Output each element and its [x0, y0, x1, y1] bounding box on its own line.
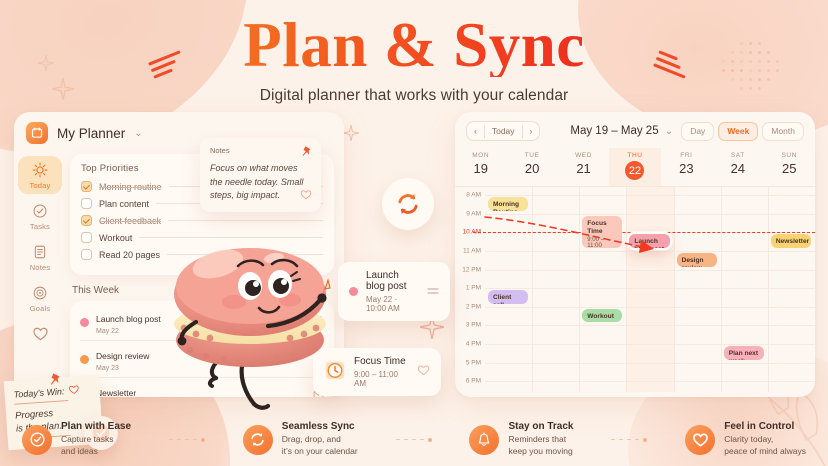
feature-connector	[131, 438, 243, 442]
priority-label: Workout	[99, 233, 132, 243]
calendar-event[interactable]: Design review11:00 – 12:00	[677, 253, 717, 267]
feature-connector	[358, 438, 470, 442]
sidebar-item-goals[interactable]: Goals	[18, 279, 62, 317]
heart-icon	[685, 425, 715, 455]
day-name: FRI	[661, 152, 712, 159]
calendar-event[interactable]: Workout2:00 – 3:00	[582, 309, 622, 323]
sidebar-item-tasks[interactable]: Tasks	[18, 197, 62, 235]
task-color-dot	[349, 287, 358, 296]
hour-line	[485, 270, 815, 271]
page-title: Plan & Sync	[0, 14, 828, 77]
chevron-down-icon[interactable]: ⌄	[134, 128, 142, 139]
time-label: 9 AM	[466, 210, 481, 217]
event-title: Plan next week	[729, 350, 759, 360]
checkbox[interactable]	[81, 198, 92, 209]
feature-desc: Reminders thatkeep you moving	[508, 434, 573, 458]
today-button[interactable]: Today	[485, 122, 522, 140]
feature-row: Plan with EaseCapture tasksand ideasSeam…	[0, 421, 828, 458]
time-label: 4 PM	[466, 341, 481, 348]
heart-icon[interactable]	[300, 187, 312, 205]
event-title: Client call	[493, 294, 523, 304]
floating-task-card[interactable]: Launch blog post May 22 · 10:00 AM	[338, 262, 450, 321]
priority-label: Client feedback	[99, 216, 161, 226]
check-circle-icon	[22, 425, 52, 455]
day-number: 24	[712, 161, 763, 176]
day-number: 23	[661, 161, 712, 176]
date-range[interactable]: May 19 – May 25 ⌄	[570, 125, 673, 137]
day-divider	[768, 187, 769, 392]
event-title: Newsletter	[776, 238, 806, 246]
drag-arrow	[483, 213, 673, 257]
sparkle-icon	[343, 125, 359, 141]
hour-line	[485, 288, 815, 289]
item-color-dot	[80, 355, 89, 364]
sidebar-item-label: Goals	[30, 304, 51, 313]
calendar-event[interactable]: Morning Routine8:00 – 9:00	[488, 197, 528, 211]
planner-title: My Planner	[57, 126, 125, 141]
checkbox[interactable]	[81, 249, 92, 260]
hour-line	[485, 307, 815, 308]
hour-line	[485, 381, 815, 382]
planner-logo-icon	[26, 122, 48, 144]
hour-line	[485, 195, 815, 196]
notes-card[interactable]: Notes Focus on what moves the needle tod…	[200, 138, 321, 212]
view-switcher: DayWeekMonth	[681, 122, 804, 141]
row-rule	[168, 220, 323, 221]
sidebar-item-today[interactable]: Today	[18, 156, 62, 194]
macaron-mascot	[150, 228, 350, 413]
event-title: Design review	[682, 257, 712, 267]
feature-title: Feel in Control	[724, 421, 806, 432]
focus-subtitle: 9:00 – 11:00 AM	[354, 370, 409, 388]
calendar-event[interactable]: Plan next week4:00 – 5:00	[724, 346, 764, 360]
day-number: 21	[558, 161, 609, 176]
day-column-header[interactable]: WED21	[558, 148, 609, 186]
sync-badge[interactable]	[382, 178, 434, 230]
event-title: Morning Routine	[493, 201, 523, 211]
item-title: Design review	[96, 351, 149, 361]
day-column-header[interactable]: SAT24	[712, 148, 763, 186]
time-axis: 8 AM9 AM10 AM11 AM12 PM1 PM2 PM3 PM4 PM5…	[455, 187, 485, 392]
heart-icon	[32, 326, 49, 341]
event-title: Workout	[587, 313, 617, 321]
priority-label: Plan content	[99, 199, 149, 209]
hero: Plan & Sync Digital planner that works w…	[0, 14, 828, 105]
sidebar-item-notes[interactable]: Notes	[18, 238, 62, 276]
time-label: 6 PM	[466, 378, 481, 385]
poster-stage: Plan & Sync Digital planner that works w…	[0, 0, 828, 466]
day-name: SUN	[764, 152, 815, 159]
hour-line	[485, 363, 815, 364]
sun-icon	[32, 162, 48, 178]
view-option-day[interactable]: Day	[681, 122, 714, 141]
day-divider	[674, 187, 675, 392]
check-circle-icon	[32, 203, 48, 219]
day-number: 19	[455, 161, 506, 176]
sidebar-item-label: Today	[29, 181, 50, 190]
calendar-panel: ‹ Today › May 19 – May 25 ⌄ DayWeekMonth…	[455, 112, 815, 397]
item-title: Newsletter	[96, 388, 136, 397]
day-column-header[interactable]: FRI23	[661, 148, 712, 186]
sidebar-item-label: Notes	[30, 263, 51, 272]
calendar-day-header: MON19TUE20WED21THU22FRI23SAT24SUN25	[455, 148, 815, 187]
focus-title: Focus Time	[354, 356, 409, 367]
time-label: 12 PM	[462, 266, 481, 273]
time-label: 3 PM	[466, 322, 481, 329]
calendar-event[interactable]: Client call1:00 – 2:00	[488, 290, 528, 304]
calendar-nav: ‹ Today ›	[466, 121, 540, 141]
item-date: May 23	[96, 365, 149, 372]
day-column-header[interactable]: TUE20	[506, 148, 557, 186]
page-subtitle: Digital planner that works with your cal…	[0, 87, 828, 105]
sidebar-item-favorites[interactable]	[18, 320, 62, 345]
sticky-underline	[14, 400, 68, 405]
time-label: 8 AM	[466, 192, 481, 199]
day-number: 22	[625, 161, 644, 180]
day-column-header[interactable]: THU22	[609, 148, 660, 186]
time-label: 11 AM	[463, 247, 481, 254]
time-label: 5 PM	[466, 359, 481, 366]
day-name: WED	[558, 152, 609, 159]
bell-icon	[469, 425, 499, 455]
task-title: Launch blog post	[366, 270, 419, 292]
day-number: 20	[506, 161, 557, 176]
calendar-grid: 8 AM9 AM10 AM11 AM12 PM1 PM2 PM3 PM4 PM5…	[455, 187, 815, 392]
feature-item: Stay on TrackReminders thatkeep you movi…	[469, 421, 573, 458]
feature-item: Seamless SyncDrag, drop, andit’s on your…	[243, 421, 358, 458]
task-subtitle: May 22 · 10:00 AM	[366, 295, 419, 313]
day-number: 25	[764, 161, 815, 176]
view-option-month[interactable]: Month	[762, 122, 804, 141]
sidebar-item-label: Tasks	[30, 222, 50, 231]
heart-icon[interactable]	[417, 363, 430, 381]
item-color-dot	[80, 318, 89, 327]
feature-desc: Drag, drop, andit’s on your calendar	[282, 434, 358, 458]
sync-icon	[243, 425, 273, 455]
prev-week-button[interactable]: ‹	[467, 122, 484, 140]
day-name: TUE	[506, 152, 557, 159]
day-divider	[721, 187, 722, 392]
checkbox[interactable]	[81, 181, 92, 192]
pin-icon	[301, 144, 313, 162]
date-range-label: May 19 – May 25	[570, 125, 658, 137]
checkbox[interactable]	[81, 215, 92, 226]
pin-icon	[48, 371, 63, 391]
calendar-toolbar: ‹ Today › May 19 – May 25 ⌄ DayWeekMonth	[455, 112, 815, 148]
day-column-header[interactable]: SUN25	[764, 148, 815, 186]
day-name: MON	[455, 152, 506, 159]
document-icon	[32, 244, 48, 260]
feature-connector	[573, 438, 685, 442]
heart-icon	[68, 384, 80, 397]
priority-label: Morning routine	[99, 182, 162, 192]
sidebar: TodayTasksNotesGoals	[14, 152, 66, 397]
hour-line	[485, 344, 815, 345]
feature-title: Stay on Track	[508, 421, 573, 432]
target-icon	[32, 285, 48, 301]
notes-body: Focus on what moves the needle today. Sm…	[210, 162, 311, 203]
sync-icon	[395, 191, 421, 217]
day-column-header[interactable]: MON19	[455, 148, 506, 186]
time-label: 2 PM	[466, 303, 481, 310]
feature-desc: Capture tasksand ideas	[61, 434, 131, 458]
feature-item: Plan with EaseCapture tasksand ideas	[22, 421, 131, 458]
view-option-week[interactable]: Week	[718, 122, 758, 141]
day-name: SAT	[712, 152, 763, 159]
feature-desc: Clarity today,peace of mind always	[724, 434, 806, 458]
feature-title: Plan with Ease	[61, 421, 131, 432]
feature-item: Feel in ControlClarity today,peace of mi…	[685, 421, 806, 458]
hour-line	[485, 325, 815, 326]
next-week-button[interactable]: ›	[523, 122, 540, 140]
chevron-down-icon[interactable]: ⌄	[665, 126, 673, 137]
day-name: THU	[609, 152, 660, 159]
priority-item[interactable]: Client feedback	[81, 215, 323, 226]
notes-title: Notes	[210, 146, 311, 155]
checkbox[interactable]	[81, 232, 92, 243]
time-label: 1 PM	[466, 285, 481, 292]
feature-title: Seamless Sync	[282, 421, 358, 432]
drag-handle-icon[interactable]	[427, 287, 439, 297]
calendar-event[interactable]: Newsletter10:00 – 11:00	[771, 234, 811, 248]
